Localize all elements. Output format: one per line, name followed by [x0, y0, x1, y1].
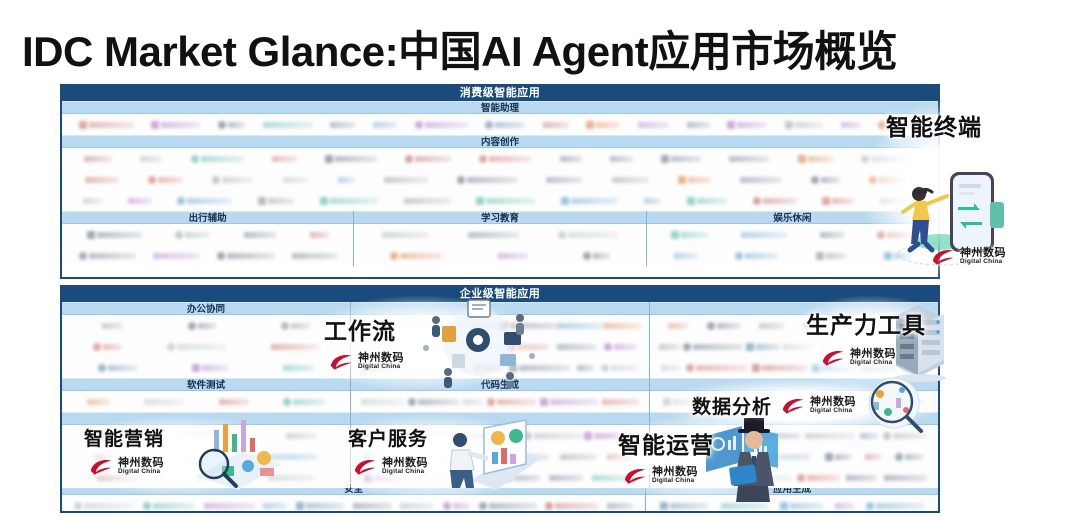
- vendor-logo: [507, 342, 549, 351]
- vendor-logo: [467, 473, 495, 482]
- vendor-logo: [798, 154, 833, 163]
- vendor-logo: [678, 175, 711, 184]
- vendor-logo: [577, 363, 594, 372]
- enterprise-section-header: 企业级智能应用: [62, 287, 938, 302]
- vendor-logo: [746, 342, 780, 351]
- vendor-logo: [835, 501, 854, 510]
- vendor-logo: [866, 501, 924, 510]
- logo-grid-entertainment: [647, 224, 938, 266]
- logo-row: [650, 336, 938, 357]
- vendor-logo: [607, 501, 633, 510]
- group-header-code-generation: 代码生成: [351, 378, 649, 391]
- slide-root: IDC Market Glance:中国AI Agent应用市场概览 消费级智能…: [0, 0, 1080, 525]
- vendor-logo: [601, 363, 638, 372]
- logo-grid-software-testing: [62, 391, 350, 412]
- vendor-logo: [479, 501, 537, 510]
- group-header-office-collaboration: 办公协同: [62, 302, 350, 315]
- vendor-logo: [560, 452, 596, 461]
- vendor-logo: [712, 473, 731, 482]
- vendor-logo: [281, 321, 310, 330]
- vendor-logo: [602, 397, 639, 406]
- vendor-logo: [604, 321, 641, 330]
- vendor-logo: [895, 397, 925, 406]
- enterprise-column-left: 办公协同 软件测试: [62, 302, 350, 482]
- vendor-logo: [364, 473, 422, 482]
- vendor-logo: [524, 431, 583, 440]
- spacer-band-left: [62, 412, 350, 425]
- vendor-logo: [543, 120, 569, 129]
- vendor-logo: [192, 363, 228, 372]
- vendor-logo: [283, 363, 314, 372]
- vendor-logo: [83, 196, 102, 205]
- vendor-logo: [79, 120, 134, 129]
- vendor-logo: [263, 501, 287, 510]
- vendor-logo: [102, 321, 123, 330]
- vendor-logo: [803, 321, 839, 330]
- spacer-band-right-top: [650, 302, 938, 315]
- vendor-logo: [415, 120, 468, 129]
- vendor-logo: [457, 175, 517, 184]
- vendor-logo: [183, 452, 208, 461]
- logo-grid-customer-service: [351, 425, 649, 488]
- subcolumn-entertainment: 娱乐休闲: [646, 211, 938, 266]
- vendor-logo: [721, 501, 768, 510]
- logo-grid-code-generation: [351, 391, 649, 412]
- logo-row: [650, 391, 938, 412]
- vendor-logo: [85, 175, 119, 184]
- logo-grid-operations: [650, 425, 938, 488]
- group-header-entertainment: 娱乐休闲: [647, 211, 938, 224]
- vendor-logo: [607, 452, 636, 461]
- vendor-logo: [759, 321, 784, 330]
- vendor-logo: [98, 363, 137, 372]
- logo-grid-content-creation: [62, 148, 938, 211]
- vendor-logo: [177, 196, 232, 205]
- vendor-logo: [865, 452, 881, 461]
- logo-grid-marketing: [62, 425, 350, 488]
- vendor-logo: [610, 154, 633, 163]
- logo-row: [646, 495, 938, 513]
- vendor-logo: [560, 154, 582, 163]
- vendor-logo: [884, 251, 911, 260]
- vendor-logo: [783, 342, 818, 351]
- vendor-logo: [661, 431, 709, 440]
- vendor-logo: [359, 321, 403, 330]
- logo-row: [351, 336, 649, 357]
- enterprise-column-right: [649, 302, 938, 482]
- vendor-logo: [144, 397, 184, 406]
- vendor-logo: [271, 342, 319, 351]
- vendor-logo: [97, 473, 141, 482]
- logo-row: [62, 190, 938, 211]
- vendor-logo: [79, 251, 136, 260]
- vendor-logo: [557, 342, 596, 351]
- vendor-logo: [93, 342, 122, 351]
- vendor-logo: [361, 397, 404, 406]
- logo-row: [351, 467, 649, 488]
- vendor-logo: [895, 452, 923, 461]
- logo-grid-app-generation: [646, 495, 938, 513]
- vendor-logo: [504, 473, 540, 482]
- vendor-logo: [661, 363, 681, 372]
- logo-row: [62, 315, 350, 336]
- logo-grid-productivity: [650, 315, 938, 378]
- vendor-logo: [500, 321, 557, 330]
- vendor-logo: [362, 363, 407, 372]
- logo-grid-workflow: [351, 315, 649, 378]
- vendor-logo: [756, 431, 800, 440]
- vendor-logo: [257, 452, 317, 461]
- vendor-logo: [140, 154, 162, 163]
- vendor-logo: [509, 363, 570, 372]
- vendor-logo: [592, 473, 637, 482]
- vendor-logo: [687, 120, 710, 129]
- logo-row: [351, 446, 649, 467]
- vendor-logo: [272, 154, 297, 163]
- enterprise-columns: 办公协同 软件测试 代码生成: [62, 302, 938, 482]
- logo-row: [354, 245, 645, 266]
- vendor-logo: [310, 230, 329, 239]
- vendor-logo: [403, 321, 443, 330]
- vendor-logo: [373, 120, 397, 129]
- vendor-logo: [549, 473, 583, 482]
- vendor-logo: [482, 431, 523, 440]
- vendor-logo: [814, 397, 838, 406]
- vendor-logo: [283, 397, 325, 406]
- vendor-logo: [816, 251, 846, 260]
- vendor-logo: [148, 175, 183, 184]
- group-header-smart-assistant: 智能助理: [62, 101, 938, 114]
- logo-grid-data-analysis: [650, 391, 938, 412]
- logo-row: [62, 169, 938, 190]
- vendor-logo: [463, 397, 483, 406]
- vendor-logo: [87, 397, 110, 406]
- vendor-logo: [390, 251, 443, 260]
- logo-row: [650, 357, 938, 378]
- vendor-logo: [586, 120, 620, 129]
- vendor-logo: [263, 120, 313, 129]
- vendor-logo: [384, 175, 428, 184]
- vendor-logo: [479, 154, 531, 163]
- vendor-logo: [330, 120, 355, 129]
- vendor-logo: [498, 251, 528, 260]
- vendor-logo: [849, 397, 884, 406]
- vendor-logo: [292, 251, 337, 260]
- vendor-logo: [219, 397, 249, 406]
- logo-row: [62, 148, 938, 169]
- vendor-logo: [418, 342, 447, 351]
- vendor-logo: [846, 473, 877, 482]
- group-header-travel: 出行辅助: [62, 211, 353, 224]
- vendor-logo: [583, 251, 610, 260]
- vendor-logo: [683, 342, 743, 351]
- vendor-logo: [644, 196, 661, 205]
- vendor-logo: [811, 175, 840, 184]
- vendor-logo: [212, 175, 253, 184]
- brand-logo-smart-terminal: 神州数码 Digital China: [930, 245, 1006, 266]
- vendor-logo: [183, 431, 233, 440]
- logo-row: [650, 467, 938, 488]
- vendor-logo: [709, 397, 764, 406]
- vendor-logo: [659, 342, 680, 351]
- vendor-logo: [741, 230, 787, 239]
- vendor-logo: [878, 120, 921, 129]
- logo-row: [62, 495, 645, 513]
- vendor-logo: [738, 473, 791, 482]
- logo-row: [62, 446, 350, 467]
- vendor-logo: [714, 452, 747, 461]
- vendor-logo: [325, 154, 377, 163]
- vendor-logo: [441, 452, 491, 461]
- vendor-logo: [869, 175, 915, 184]
- logo-grid-smart-assistant: [62, 114, 938, 135]
- group-header-content-creation: 内容创作: [62, 135, 938, 148]
- vendor-logo: [363, 342, 410, 351]
- vendor-logo: [858, 321, 881, 330]
- vendor-logo: [383, 431, 433, 440]
- logo-row: [62, 336, 350, 357]
- vendor-logo: [752, 363, 807, 372]
- vendor-logo: [875, 342, 929, 351]
- vendor-logo: [434, 431, 481, 440]
- vendor-logo: [821, 342, 872, 351]
- vendor-logo: [663, 397, 698, 406]
- vendor-logo: [431, 473, 458, 482]
- vendor-logo: [671, 230, 708, 239]
- vendor-logo: [900, 321, 921, 330]
- vendor-logo: [244, 230, 276, 239]
- vendor-logo: [661, 154, 701, 163]
- vendor-logo: [558, 230, 618, 239]
- vendor-logo: [880, 196, 917, 205]
- vendor-logo: [674, 251, 698, 260]
- logo-row: [351, 391, 649, 412]
- spacer-band-right-bottom: [650, 412, 938, 425]
- vendor-logo: [95, 452, 134, 461]
- vendor-logo: [761, 452, 810, 461]
- vendor-logo: [400, 501, 434, 510]
- vendor-logo: [455, 342, 499, 351]
- vendor-logo: [584, 431, 640, 440]
- vendor-logo: [707, 321, 740, 330]
- consumer-subcolumns: 出行辅助 学习教育 娱乐休闲: [62, 211, 938, 266]
- vendor-logo: [861, 154, 916, 163]
- vendor-logo: [404, 196, 451, 205]
- vendor-logo: [143, 501, 195, 510]
- logo-row: [62, 114, 938, 135]
- vendor-logo: [408, 397, 459, 406]
- vendor-logo: [735, 251, 778, 260]
- vendor-logo: [883, 431, 927, 440]
- vendor-logo: [338, 175, 354, 184]
- logo-row: [62, 467, 350, 488]
- logo-row: [650, 446, 938, 467]
- vendor-logo: [84, 154, 112, 163]
- vendor-logo: [820, 230, 844, 239]
- group-header-software-testing: 软件测试: [62, 378, 350, 391]
- group-header-education: 学习教育: [354, 211, 645, 224]
- vendor-logo: [665, 452, 700, 461]
- vendor-logo: [443, 501, 470, 510]
- vendor-logo: [268, 473, 315, 482]
- vendor-logo: [546, 175, 582, 184]
- vendor-logo: [540, 397, 598, 406]
- vendor-logo: [360, 431, 382, 440]
- vendor-logo: [740, 175, 781, 184]
- vendor-logo: [128, 196, 152, 205]
- subcolumn-travel: 出行辅助: [62, 211, 353, 266]
- logo-grid-education: [354, 224, 645, 266]
- vendor-logo: [812, 363, 856, 372]
- enterprise-column-middle: 代码生成: [350, 302, 649, 482]
- logo-row: [62, 224, 353, 245]
- vendor-logo: [468, 230, 519, 239]
- vendor-logo: [476, 196, 535, 205]
- vendor-logo: [414, 363, 466, 372]
- logo-row: [62, 357, 350, 378]
- vendor-logo: [902, 363, 928, 372]
- vendor-logo: [822, 196, 854, 205]
- vendor-logo: [443, 321, 500, 330]
- vendor-logo: [668, 321, 688, 330]
- vendor-logo: [167, 342, 226, 351]
- vendor-logo: [612, 175, 649, 184]
- vendor-logo: [727, 120, 767, 129]
- vendor-logo: [660, 501, 708, 510]
- vendor-logo: [604, 342, 637, 351]
- logo-row: [62, 425, 350, 446]
- vendor-logo: [405, 154, 451, 163]
- logo-row: [62, 245, 353, 266]
- vendor-logo: [638, 120, 669, 129]
- vendor-logo: [87, 230, 142, 239]
- vendor-logo: [97, 431, 130, 440]
- vendor-logo: [204, 501, 255, 510]
- vendor-logo: [188, 321, 216, 330]
- vendor-logo: [353, 501, 392, 510]
- vendor-logo: [501, 452, 549, 461]
- vendor-logo: [785, 120, 823, 129]
- spacer-band-mid-top: [351, 302, 649, 315]
- vendor-logo: [884, 473, 927, 482]
- logo-row: [650, 425, 938, 446]
- vendor-logo: [258, 196, 294, 205]
- subcolumn-education: 学习教育: [353, 211, 645, 266]
- vendor-logo: [545, 501, 598, 510]
- vendor-logo: [753, 196, 797, 205]
- vendor-logo: [485, 120, 525, 129]
- vendor-logo: [780, 501, 823, 510]
- logo-row: [354, 224, 645, 245]
- vendor-logo: [861, 363, 897, 372]
- logo-row: [351, 425, 649, 446]
- vendor-logo: [283, 175, 309, 184]
- vendor-logo: [825, 452, 851, 461]
- vendor-logo: [175, 230, 210, 239]
- vendor-logo: [557, 321, 604, 330]
- vendor-logo: [218, 120, 245, 129]
- logo-grid-security: [62, 495, 645, 513]
- spacer-band-mid-bottom: [351, 412, 649, 425]
- vendor-logo: [714, 431, 750, 440]
- enterprise-section-panel: 企业级智能应用 办公协同 软件测试 代码生成: [60, 285, 940, 513]
- vendor-logo: [729, 154, 769, 163]
- vendor-logo: [296, 501, 344, 510]
- spacer-band-right-mid: [650, 378, 938, 391]
- vendor-logo: [153, 251, 200, 260]
- logo-grid-office-collaboration: [62, 315, 350, 378]
- logo-row: [351, 315, 649, 336]
- consumer-section-panel: 消费级智能应用 智能助理 内容创作 出行辅助 学习教育 娱乐休闲: [60, 84, 940, 279]
- vendor-logo: [487, 397, 536, 406]
- vendor-logo: [320, 196, 378, 205]
- vendor-logo: [687, 196, 727, 205]
- vendor-logo: [217, 251, 275, 260]
- logo-row: [647, 245, 938, 266]
- logo-row: [62, 391, 350, 412]
- vendor-logo: [686, 363, 747, 372]
- page-title: IDC Market Glance:中国AI Agent应用市场概览: [22, 18, 897, 79]
- vendor-logo: [151, 120, 200, 129]
- vendor-logo: [473, 363, 503, 372]
- vendor-logo: [805, 431, 854, 440]
- vendor-logo: [286, 431, 316, 440]
- logo-grid-travel: [62, 224, 353, 266]
- vendor-logo: [74, 501, 134, 510]
- vendor-logo: [877, 230, 913, 239]
- vendor-logo: [841, 120, 861, 129]
- vendor-logo: [364, 452, 398, 461]
- vendor-logo: [775, 397, 803, 406]
- vendor-logo: [409, 452, 430, 461]
- consumer-section-header: 消费级智能应用: [62, 86, 938, 101]
- logo-row: [647, 224, 938, 245]
- vendor-logo: [797, 473, 840, 482]
- logo-row: [650, 315, 938, 336]
- vendor-logo: [561, 196, 618, 205]
- logo-row: [351, 357, 649, 378]
- vendor-logo: [196, 473, 213, 482]
- vendor-logo: [191, 154, 244, 163]
- vendor-logo: [382, 230, 429, 239]
- vendor-logo: [860, 431, 878, 440]
- vendor-logo: [661, 473, 706, 482]
